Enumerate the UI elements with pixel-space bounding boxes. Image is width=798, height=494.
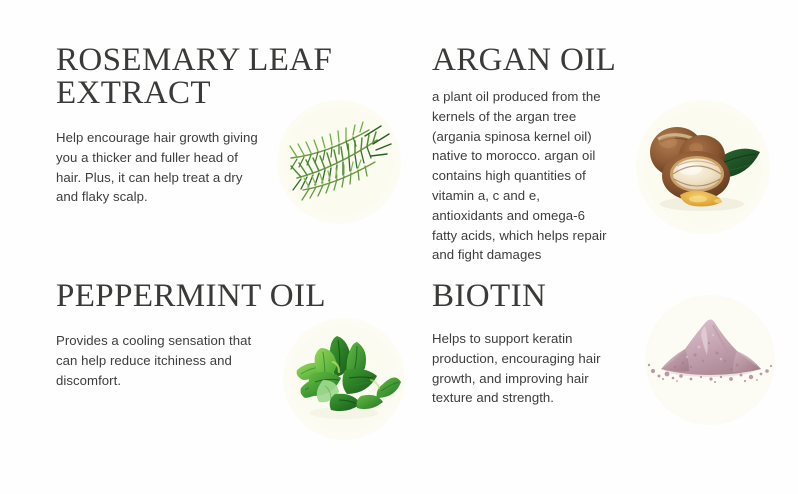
rosemary-sprig-image: [277, 100, 401, 224]
ingredient-title-peppermint: PEPPERMINT OIL: [56, 280, 346, 313]
ingredient-title-argan: ARGAN OIL: [432, 44, 692, 77]
peppermint-leaves-image: [283, 318, 405, 440]
ingredient-description-argan: a plant oil produced from the kernels of…: [432, 87, 608, 265]
biotin-powder-image: [645, 295, 775, 425]
argan-nuts-image: [636, 100, 770, 234]
ingredient-description-peppermint: Provides a cooling sensation that can he…: [56, 331, 268, 390]
ingredient-description-biotin: Helps to support keratin production, enc…: [432, 329, 610, 408]
ingredient-description-rosemary: Help encourage hair growth giving you a …: [56, 128, 264, 207]
ingredients-infographic: ROSEMARY LEAF EXTRACT Help encourage hai…: [0, 0, 798, 494]
